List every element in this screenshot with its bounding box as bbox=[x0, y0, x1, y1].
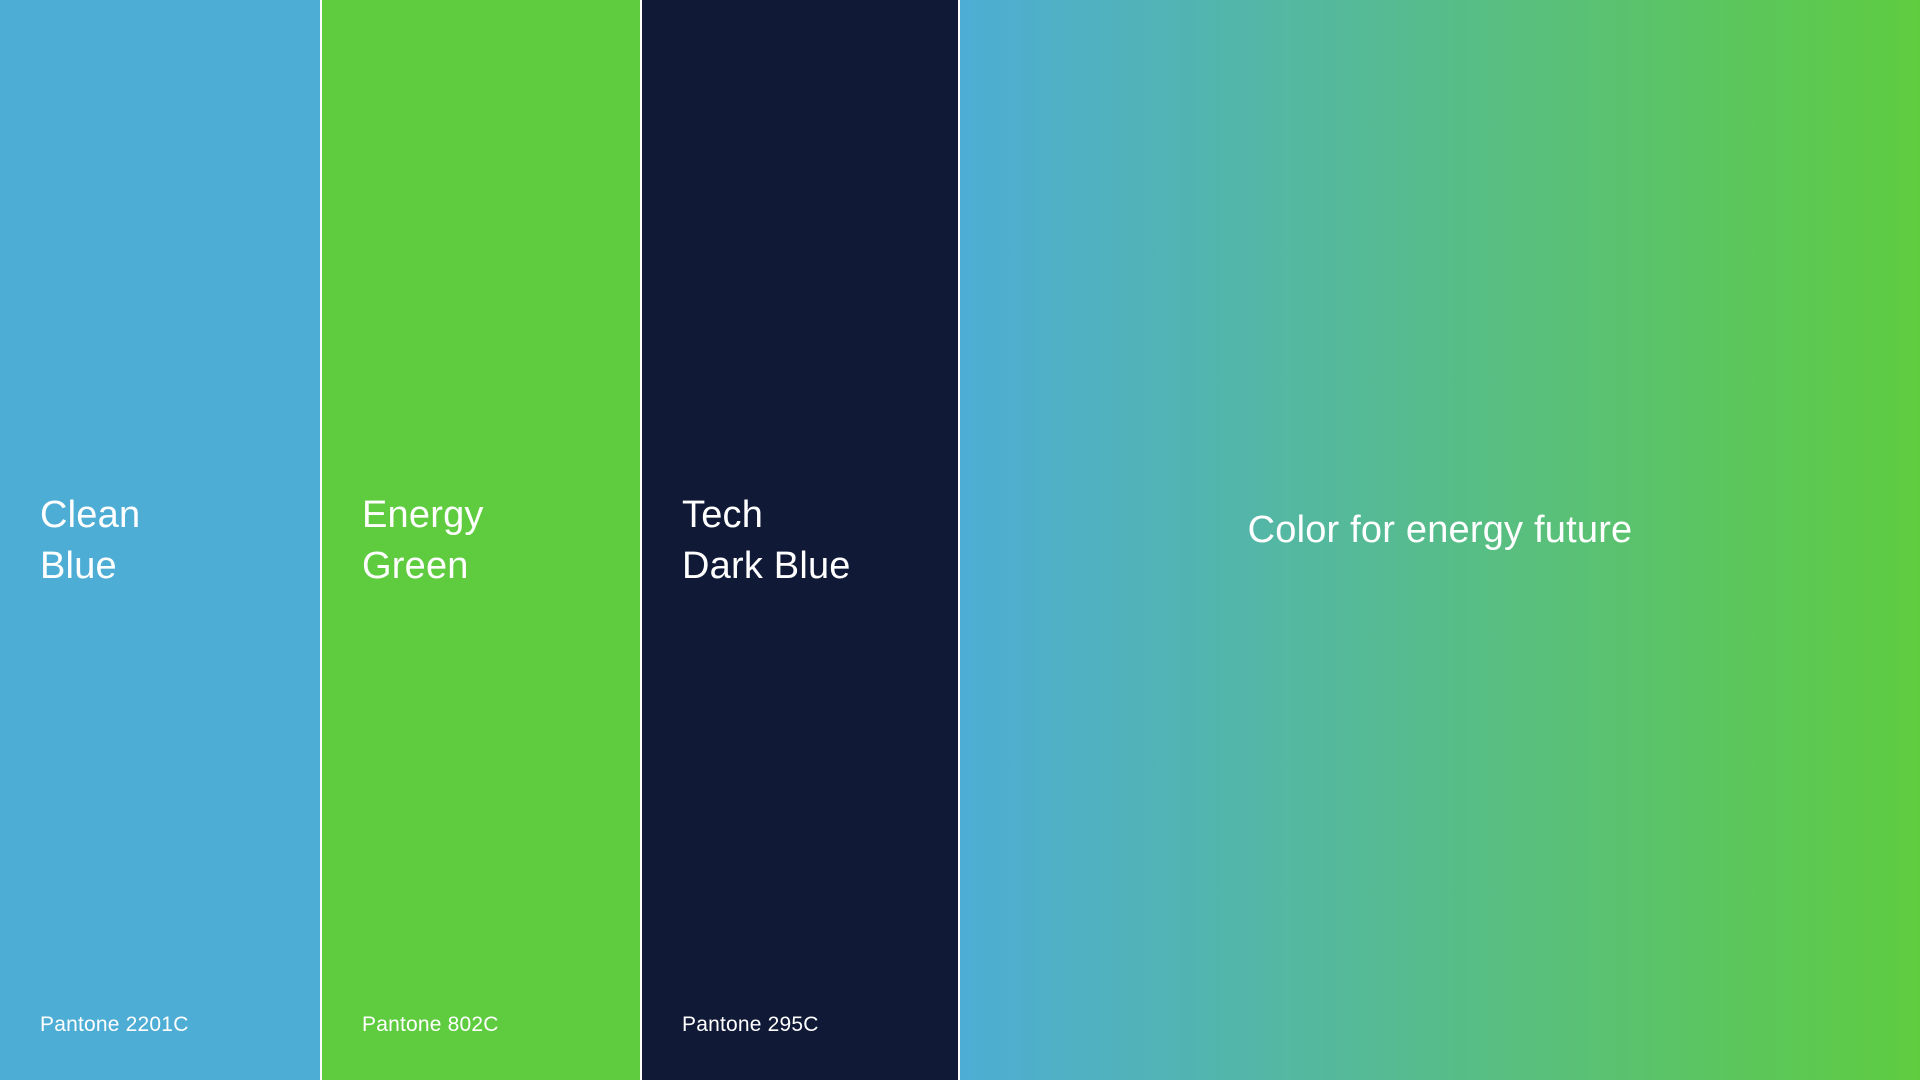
swatch-pantone-code-clean-blue: Pantone 2201C bbox=[40, 1012, 189, 1038]
color-swatch-tech-dark-blue[interactable]: Tech Dark Blue Pantone 295C bbox=[642, 0, 958, 1080]
swatch-pantone-code-tech-dark-blue: Pantone 295C bbox=[682, 1012, 819, 1038]
gradient-tagline: Color for energy future bbox=[1248, 505, 1633, 556]
swatch-name-energy-green: Energy Green bbox=[362, 490, 484, 592]
color-palette-board: Clean Blue Pantone 2201C Energy Green Pa… bbox=[0, 0, 1920, 1080]
swatch-name-clean-blue: Clean Blue bbox=[40, 490, 140, 592]
gradient-panel[interactable]: Color for energy future bbox=[960, 0, 1920, 1080]
swatch-name-tech-dark-blue: Tech Dark Blue bbox=[682, 490, 851, 592]
color-swatch-energy-green[interactable]: Energy Green Pantone 802C bbox=[322, 0, 640, 1080]
swatch-pantone-code-energy-green: Pantone 802C bbox=[362, 1012, 499, 1038]
color-swatch-clean-blue[interactable]: Clean Blue Pantone 2201C bbox=[0, 0, 320, 1080]
